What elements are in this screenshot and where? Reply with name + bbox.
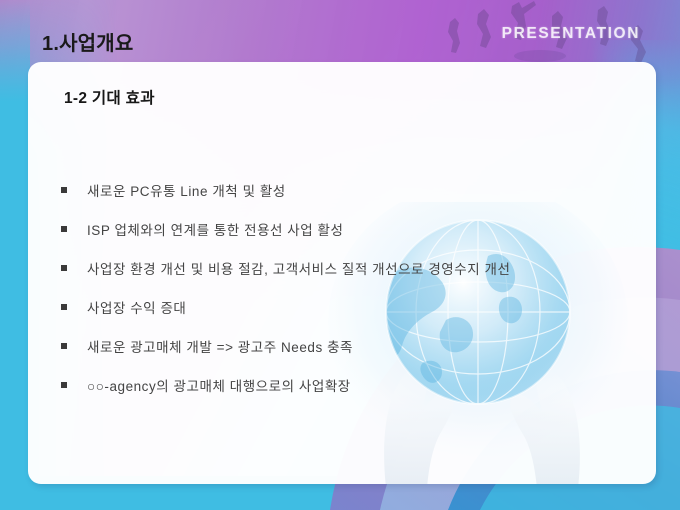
list-item: 새로운 PC유통 Line 개척 및 활성 bbox=[61, 170, 641, 209]
list-item: ISP 업체와의 연계를 통한 전용선 사업 활성 bbox=[61, 209, 641, 248]
square-bullet-icon bbox=[61, 382, 67, 388]
list-item-label: ISP 업체와의 연계를 통한 전용선 사업 활성 bbox=[87, 219, 344, 239]
header-artwork: PRESENTATION bbox=[420, 0, 680, 62]
section-subtitle: 1-2 기대 효과 bbox=[64, 86, 155, 108]
list-item-label: 새로운 PC유통 Line 개척 및 활성 bbox=[87, 180, 286, 200]
bullet-list: 새로운 PC유통 Line 개척 및 활성 ISP 업체와의 연계를 통한 전용… bbox=[61, 170, 641, 404]
list-item-label: ○○-agency의 광고매체 대행으로의 사업확장 bbox=[87, 375, 351, 395]
content-card: 1-2 기대 효과 새로운 PC유통 Line 개척 및 활성 ISP 업체와의… bbox=[28, 62, 656, 484]
list-item: 사업장 환경 개선 및 비용 절감, 고객서비스 질적 개선으로 경영수지 개선 bbox=[61, 248, 641, 287]
square-bullet-icon bbox=[61, 187, 67, 193]
list-item-label: 사업장 수익 증대 bbox=[87, 297, 186, 317]
square-bullet-icon bbox=[61, 265, 67, 271]
square-bullet-icon bbox=[61, 343, 67, 349]
list-item-label: 사업장 환경 개선 및 비용 절감, 고객서비스 질적 개선으로 경영수지 개선 bbox=[87, 258, 510, 278]
list-item-label: 새로운 광고매체 개발 => 광고주 Needs 충족 bbox=[87, 336, 353, 356]
page-title: 1.사업개요 bbox=[42, 27, 133, 56]
list-item: ○○-agency의 광고매체 대행으로의 사업확장 bbox=[61, 365, 641, 404]
background-cyan-left-strip bbox=[0, 0, 30, 510]
list-item: 새로운 광고매체 개발 => 광고주 Needs 충족 bbox=[61, 326, 641, 365]
presentation-slide: PRESENTATION 1.사업개요 bbox=[0, 0, 680, 510]
square-bullet-icon bbox=[61, 226, 67, 232]
list-item: 사업장 수익 증대 bbox=[61, 287, 641, 326]
square-bullet-icon bbox=[61, 304, 67, 310]
presentation-wordmark: PRESENTATION bbox=[502, 25, 640, 43]
